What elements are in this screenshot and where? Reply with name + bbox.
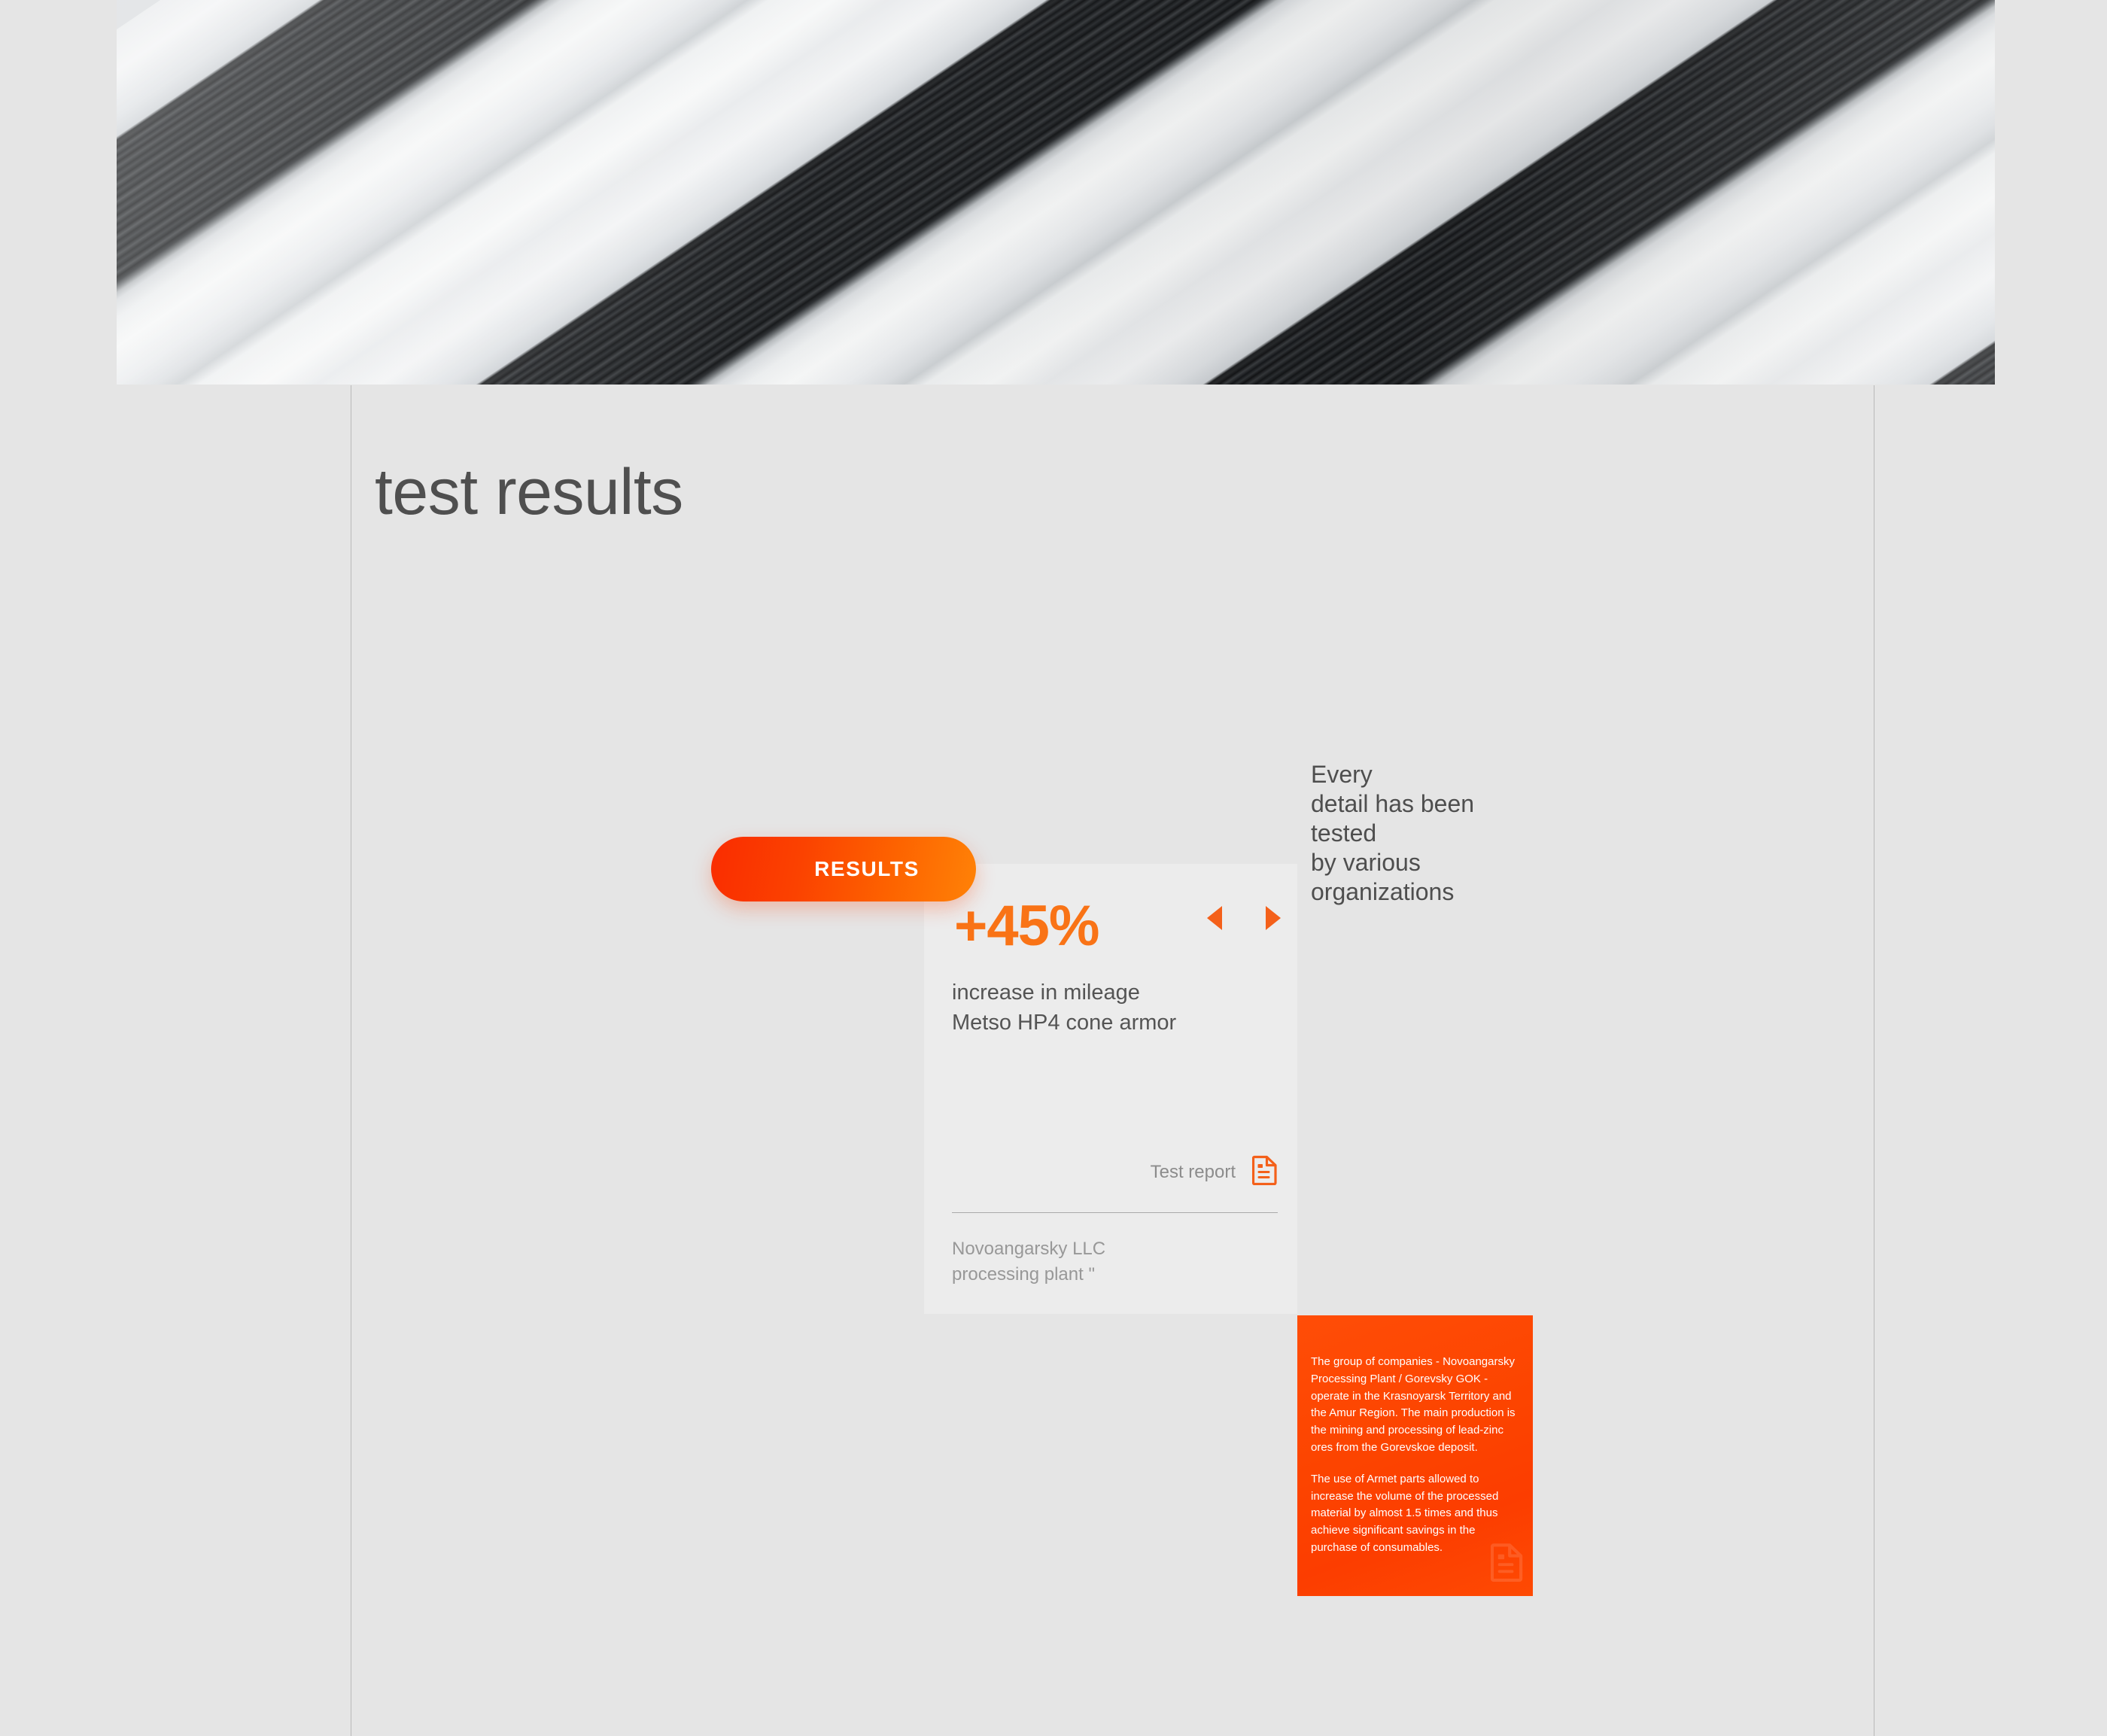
test-report-link[interactable]: Test report — [952, 1155, 1278, 1189]
info-paragraph: The use of Armet parts allowed to increa… — [1311, 1471, 1522, 1557]
info-panel-text: The group of companies - Novoangarsky Pr… — [1311, 1354, 1522, 1557]
hero-image — [117, 0, 1995, 385]
results-button-label: RESULTS — [768, 857, 920, 881]
layout-guide-right — [1874, 385, 1874, 1736]
chevron-right-icon[interactable] — [1266, 906, 1281, 930]
layout-guide-left — [351, 385, 351, 1736]
info-paragraph: The group of companies - Novoangarsky Pr… — [1311, 1354, 1522, 1457]
card-divider — [952, 1212, 1278, 1213]
facade-pattern — [117, 0, 1995, 385]
test-report-label: Test report — [1151, 1162, 1236, 1183]
document-icon — [1252, 1155, 1278, 1189]
page-title: test results — [375, 460, 683, 524]
stat-source: Novoangarsky LLC processing plant " — [952, 1236, 1105, 1287]
chevron-left-icon[interactable] — [1207, 906, 1222, 930]
carousel-nav — [1207, 906, 1281, 930]
info-panel: The group of companies - Novoangarsky Pr… — [1297, 1315, 1533, 1596]
section-lede: Every detail has been tested by various … — [1311, 760, 1474, 907]
stat-value: +45% — [954, 898, 1099, 955]
document-icon — [1491, 1543, 1524, 1586]
stat-card: +45% increase in mileage Metso HP4 cone … — [924, 864, 1297, 1314]
results-button[interactable]: RESULTS — [711, 837, 976, 901]
stat-caption: increase in mileage Metso HP4 cone armor — [952, 978, 1176, 1038]
